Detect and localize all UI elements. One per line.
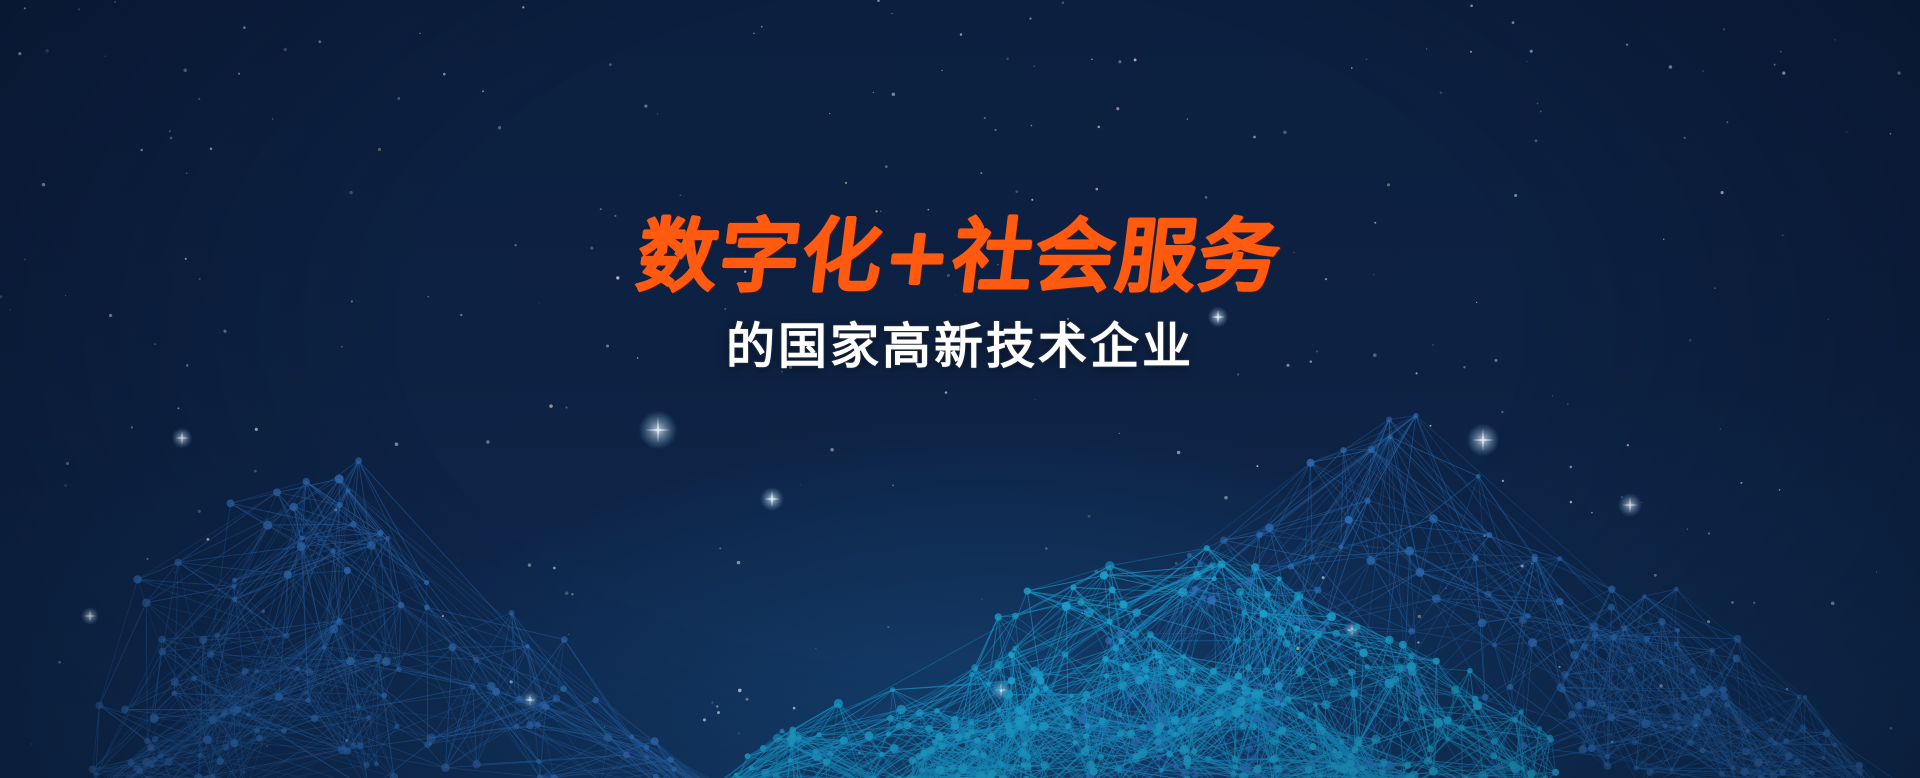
polygonal-network-center	[703, 548, 1556, 778]
polygonal-network-left	[68, 461, 751, 778]
page-title: 数字化+社会服务	[633, 216, 1286, 298]
page-subtitle: 的国家高新技术企业	[0, 320, 1920, 374]
hero-text-block: 数字化+社会服务 的国家高新技术企业	[0, 216, 1920, 373]
polygonal-network-graphic	[0, 0, 1920, 778]
hero-banner: 数字化+社会服务 的国家高新技术企业	[0, 0, 1920, 778]
